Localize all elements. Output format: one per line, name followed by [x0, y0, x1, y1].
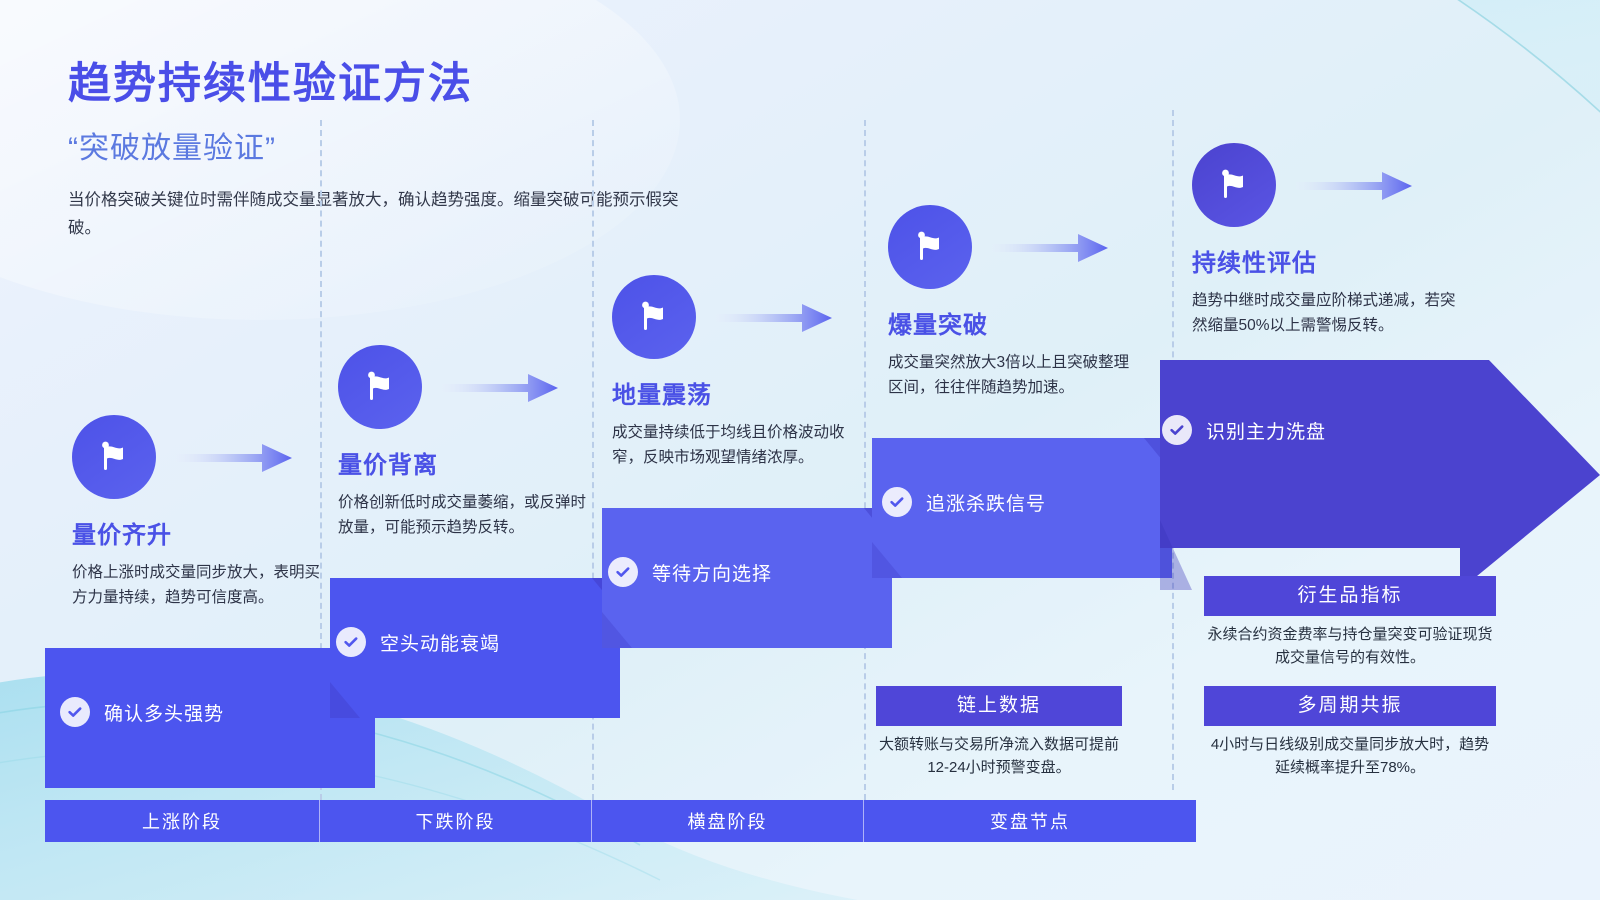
info-card-body: 4小时与日线级别成交量同步放大时，趋势延续概率提升至78%。 — [1204, 733, 1496, 780]
info-card-caption: 链上数据 — [876, 686, 1122, 726]
check-circle-icon — [60, 697, 90, 727]
infographic-canvas: 趋势持续性验证方法 “突破放量验证” 当价格突破关键位时需伴随成交量显著放大，确… — [0, 0, 1600, 900]
step-title-1: 量价齐升 — [72, 515, 322, 550]
phase-bar: 上涨阶段 下跌阶段 横盘阶段 变盘节点 — [45, 800, 1196, 842]
info-card-caption: 衍生品指标 — [1204, 576, 1496, 616]
step-desc-2: 价格创新低时成交量萎缩，或反弹时放量，可能预示趋势反转。 — [338, 491, 588, 541]
info-card-body: 永续合约资金费率与持仓量突变可验证现货成交量信号的有效性。 — [1204, 623, 1496, 670]
header: 趋势持续性验证方法 “突破放量验证” 当价格突破关键位时需伴随成交量显著放大，确… — [68, 60, 748, 242]
step-desc-5: 趋势中继时成交量应阶梯式递减，若突然缩量50%以上需警惕反转。 — [1192, 289, 1457, 339]
info-card-body: 大额转账与交易所净流入数据可提前12-24小时预警变盘。 — [876, 733, 1122, 780]
stair-tag-5: 识别主力洗盘 — [1206, 417, 1326, 444]
step-title-2: 量价背离 — [338, 445, 588, 480]
phase-cell-pivot[interactable]: 变盘节点 — [864, 800, 1196, 842]
phase-label: 上涨阶段 — [142, 808, 222, 834]
step-desc-4: 成交量突然放大3倍以上且突破整理区间，往往伴随趋势加速。 — [888, 351, 1143, 401]
info-card-multitimeframe: 多周期共振 4小时与日线级别成交量同步放大时，趋势延续概率提升至78%。 — [1204, 686, 1496, 779]
phase-cell-falling[interactable]: 下跌阶段 — [320, 800, 592, 842]
step-desc-1: 价格上涨时成交量同步放大，表明买方力量持续，趋势可信度高。 — [72, 561, 322, 611]
arrow-right-icon — [176, 443, 292, 473]
check-circle-icon — [882, 487, 912, 517]
step-title-5: 持续性评估 — [1192, 243, 1457, 278]
arrow-right-icon — [716, 303, 832, 333]
arrow-right-icon — [1296, 171, 1412, 201]
page-title: 趋势持续性验证方法 — [68, 60, 748, 109]
check-circle-icon — [336, 627, 366, 657]
flag-icon — [888, 205, 972, 289]
step-title-3: 地量震荡 — [612, 375, 862, 410]
flag-icon — [72, 415, 156, 499]
check-circle-icon — [1162, 415, 1192, 445]
check-circle-icon — [608, 557, 638, 587]
stair-label-4: 追涨杀跌信号 — [882, 487, 1046, 517]
stair-label-2: 空头动能衰竭 — [336, 627, 500, 657]
stair-tag-3: 等待方向选择 — [652, 559, 772, 586]
step-title-4: 爆量突破 — [888, 305, 1143, 340]
step-head-3: 地量震荡 成交量持续低于均线且价格波动收窄，反映市场观望情绪浓厚。 — [612, 275, 862, 471]
stair-tag-1: 确认多头强势 — [104, 699, 224, 726]
flag-icon — [612, 275, 696, 359]
phase-cell-sideways[interactable]: 横盘阶段 — [592, 800, 864, 842]
phase-cell-rising[interactable]: 上涨阶段 — [45, 800, 320, 842]
step-head-4: 爆量突破 成交量突然放大3倍以上且突破整理区间，往往伴随趋势加速。 — [888, 205, 1143, 401]
page-subtitle: “突破放量验证” — [68, 123, 748, 167]
phase-label: 下跌阶段 — [416, 808, 496, 834]
flag-icon — [338, 345, 422, 429]
step-head-2: 量价背离 价格创新低时成交量萎缩，或反弹时放量，可能预示趋势反转。 — [338, 345, 588, 541]
page-lead-text: 当价格突破关键位时需伴随成交量显著放大，确认趋势强度。缩量突破可能预示假突破。 — [68, 187, 688, 241]
stair-label-1: 确认多头强势 — [60, 697, 224, 727]
step-head-5: 持续性评估 趋势中继时成交量应阶梯式递减，若突然缩量50%以上需警惕反转。 — [1192, 143, 1457, 339]
info-card-onchain: 链上数据 大额转账与交易所净流入数据可提前12-24小时预警变盘。 — [876, 686, 1122, 779]
phase-label: 横盘阶段 — [688, 808, 768, 834]
info-card-caption: 多周期共振 — [1204, 686, 1496, 726]
flag-icon — [1192, 143, 1276, 227]
phase-label: 变盘节点 — [990, 808, 1070, 834]
arrow-right-icon — [992, 233, 1108, 263]
stair-tag-2: 空头动能衰竭 — [380, 629, 500, 656]
arrow-right-icon — [442, 373, 558, 403]
step-head-1: 量价齐升 价格上涨时成交量同步放大，表明买方力量持续，趋势可信度高。 — [72, 415, 322, 611]
phase-divider-3 — [864, 120, 866, 800]
stair-label-5: 识别主力洗盘 — [1162, 415, 1326, 445]
stair-tag-4: 追涨杀跌信号 — [926, 489, 1046, 516]
info-card-derivatives: 衍生品指标 永续合约资金费率与持仓量突变可验证现货成交量信号的有效性。 — [1204, 576, 1496, 669]
stair-block-5-arrow — [1160, 360, 1600, 590]
step-desc-3: 成交量持续低于均线且价格波动收窄，反映市场观望情绪浓厚。 — [612, 421, 862, 471]
stair-label-3: 等待方向选择 — [608, 557, 772, 587]
